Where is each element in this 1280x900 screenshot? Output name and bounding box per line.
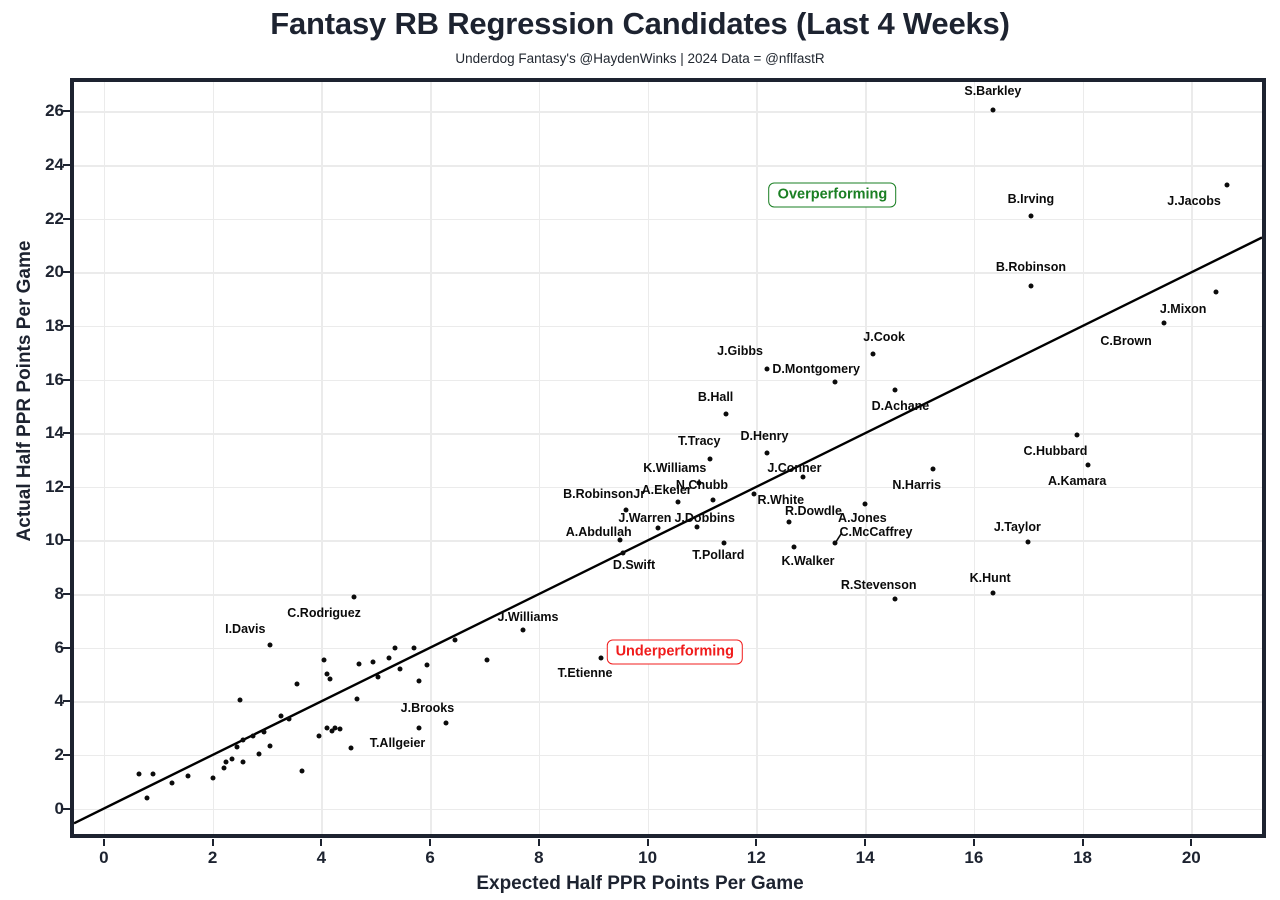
point-label: J.Warren (618, 511, 671, 525)
y-tick-mark (63, 379, 70, 381)
data-point-unlabeled (425, 663, 430, 668)
x-tick-label: 14 (835, 848, 895, 868)
point-label: J.Brooks (401, 701, 455, 715)
x-tick-label: 20 (1161, 848, 1221, 868)
y-tick-label: 0 (4, 799, 64, 819)
data-point-unlabeled (376, 675, 381, 680)
data-point-unlabeled (221, 766, 226, 771)
point-label: A.Abdullah (566, 525, 632, 539)
gridline-horizontal (74, 326, 1262, 328)
data-point (833, 541, 838, 546)
point-label: B.RobinsonJr (563, 487, 645, 501)
data-point (710, 498, 715, 503)
data-point (1028, 214, 1033, 219)
data-point (1086, 463, 1091, 468)
data-point-unlabeled (137, 771, 142, 776)
point-label: J.Gibbs (717, 344, 763, 358)
gridline-vertical (104, 82, 106, 834)
data-point (792, 545, 797, 550)
data-point (765, 366, 770, 371)
data-point-unlabeled (392, 645, 397, 650)
point-label: J.Williams (497, 610, 558, 624)
data-point (990, 108, 995, 113)
point-label: N.Harris (892, 478, 941, 492)
x-tick-label: 0 (74, 848, 134, 868)
point-label: K.Hunt (970, 571, 1011, 585)
data-point (621, 550, 626, 555)
data-point (990, 590, 995, 595)
data-point-unlabeled (150, 771, 155, 776)
point-label: R.Stevenson (841, 578, 917, 592)
x-tick-mark (320, 839, 322, 846)
data-point-unlabeled (240, 759, 245, 764)
data-point-unlabeled (267, 743, 272, 748)
gridline-vertical (756, 82, 758, 834)
data-point (863, 502, 868, 507)
data-point-unlabeled (224, 759, 229, 764)
data-point (694, 525, 699, 530)
data-point-unlabeled (452, 637, 457, 642)
data-point-unlabeled (349, 746, 354, 751)
point-label: I.Davis (225, 622, 265, 636)
y-tick-mark (63, 647, 70, 649)
data-point-unlabeled (322, 657, 327, 662)
y-tick-mark (63, 808, 70, 810)
data-point-unlabeled (278, 714, 283, 719)
y-axis-label: Actual Half PPR Points Per Game (14, 11, 36, 771)
gridline-horizontal (74, 755, 1262, 757)
point-label: A.Ekeler (642, 483, 692, 497)
data-point (765, 451, 770, 456)
x-tick-mark (103, 839, 105, 846)
data-point-unlabeled (145, 795, 150, 800)
data-point (786, 519, 791, 524)
point-label: J.Cook (863, 330, 905, 344)
point-label: J.Conner (767, 461, 821, 475)
y-tick-mark (63, 700, 70, 702)
point-label: C.Brown (1100, 334, 1151, 348)
point-label: C.McCaffrey (839, 525, 912, 539)
point-label: C.Rodriguez (287, 606, 361, 620)
x-tick-mark (538, 839, 540, 846)
data-point (1224, 183, 1229, 188)
point-label: B.Irving (1008, 192, 1055, 206)
data-point-unlabeled (327, 676, 332, 681)
data-point (871, 352, 876, 357)
y-tick-mark (63, 325, 70, 327)
data-point-unlabeled (324, 726, 329, 731)
x-tick-label: 12 (726, 848, 786, 868)
data-point (1213, 290, 1218, 295)
y-tick-mark (63, 539, 70, 541)
x-tick-label: 2 (183, 848, 243, 868)
x-tick-label: 6 (400, 848, 460, 868)
point-label: T.Etienne (558, 666, 613, 680)
data-point-unlabeled (262, 730, 267, 735)
y-tick-mark (63, 486, 70, 488)
point-label: B.Robinson (996, 260, 1066, 274)
data-point-unlabeled (300, 768, 305, 773)
x-tick-mark (864, 839, 866, 846)
x-tick-mark (1082, 839, 1084, 846)
chart-subtitle: Underdog Fantasy's @HaydenWinks | 2024 D… (0, 51, 1280, 66)
data-point-unlabeled (411, 645, 416, 650)
gridline-horizontal (74, 165, 1262, 167)
data-point-unlabeled (256, 751, 261, 756)
data-point-unlabeled (251, 734, 256, 739)
data-point-unlabeled (240, 738, 245, 743)
point-label: J.Taylor (994, 520, 1041, 534)
data-point (1075, 432, 1080, 437)
data-point-unlabeled (286, 716, 291, 721)
point-label: T.Tracy (678, 434, 720, 448)
point-label: T.Pollard (692, 548, 744, 562)
x-tick-label: 16 (944, 848, 1004, 868)
x-tick-label: 4 (291, 848, 351, 868)
x-tick-mark (755, 839, 757, 846)
x-tick-mark (647, 839, 649, 846)
data-point (417, 726, 422, 731)
gridline-vertical (974, 82, 976, 834)
point-label: A.Kamara (1048, 474, 1106, 488)
point-label: D.Montgomery (772, 362, 860, 376)
gridline-horizontal (74, 380, 1262, 382)
data-point-unlabeled (485, 657, 490, 662)
data-point-unlabeled (371, 660, 376, 665)
data-point (751, 491, 756, 496)
data-point-unlabeled (332, 726, 337, 731)
y-tick-mark (63, 432, 70, 434)
point-label: B.Hall (698, 390, 733, 404)
data-point (1026, 539, 1031, 544)
data-point (892, 597, 897, 602)
data-point (1028, 283, 1033, 288)
gridline-horizontal (74, 272, 1262, 274)
data-point-unlabeled (169, 781, 174, 786)
gridline-vertical (539, 82, 541, 834)
point-label: D.Swift (613, 558, 655, 572)
gridline-vertical (648, 82, 650, 834)
data-point (724, 412, 729, 417)
data-point (444, 720, 449, 725)
annotation-badge-overperforming: Overperforming (769, 182, 897, 207)
data-point-unlabeled (210, 775, 215, 780)
point-label: D.Henry (741, 429, 789, 443)
data-point (599, 656, 604, 661)
point-label: D.Achane (872, 399, 930, 413)
x-axis-label: Expected Half PPR Points Per Game (0, 873, 1280, 895)
x-tick-mark (973, 839, 975, 846)
x-tick-mark (1190, 839, 1192, 846)
data-point (708, 456, 713, 461)
data-point (1162, 321, 1167, 326)
data-point-unlabeled (354, 696, 359, 701)
point-label: J.Mixon (1160, 302, 1207, 316)
point-label: C.Hubbard (1023, 444, 1087, 458)
data-point (520, 628, 525, 633)
data-point-unlabeled (316, 734, 321, 739)
plot-inner: S.BarkleyJ.JacobsB.IrvingB.RobinsonJ.Mix… (74, 82, 1262, 834)
gridline-vertical (321, 82, 323, 834)
annotation-badge-underperforming: Underperforming (607, 639, 743, 664)
data-point-unlabeled (417, 679, 422, 684)
gridline-vertical (1083, 82, 1085, 834)
data-point-unlabeled (357, 661, 362, 666)
gridline-horizontal (74, 701, 1262, 703)
x-tick-mark (429, 839, 431, 846)
gridline-horizontal (74, 433, 1262, 435)
data-point (267, 642, 272, 647)
gridline-horizontal (74, 594, 1262, 596)
y-tick-mark (63, 593, 70, 595)
x-tick-label: 18 (1053, 848, 1113, 868)
point-label: J.Jacobs (1167, 194, 1221, 208)
data-point (833, 380, 838, 385)
data-point-unlabeled (229, 756, 234, 761)
data-point-unlabeled (398, 667, 403, 672)
data-point (800, 475, 805, 480)
gridline-horizontal (74, 540, 1262, 542)
data-point (931, 467, 936, 472)
chart-title: Fantasy RB Regression Candidates (Last 4… (0, 6, 1280, 42)
data-point (721, 541, 726, 546)
y-tick-mark (63, 754, 70, 756)
point-label: K.Walker (781, 554, 834, 568)
y-tick-mark (63, 218, 70, 220)
gridline-horizontal (74, 111, 1262, 113)
gridline-vertical (213, 82, 215, 834)
data-point-unlabeled (186, 774, 191, 779)
data-point-unlabeled (237, 697, 242, 702)
point-label: K.Williams (643, 461, 706, 475)
data-point-unlabeled (338, 727, 343, 732)
y-tick-mark (63, 110, 70, 112)
x-tick-label: 10 (618, 848, 678, 868)
data-point (675, 499, 680, 504)
data-point (656, 526, 661, 531)
x-tick-mark (212, 839, 214, 846)
point-label: R.Dowdle (785, 504, 842, 518)
point-label: J.Dobbins (674, 511, 734, 525)
gridline-vertical (430, 82, 432, 834)
data-point-unlabeled (294, 681, 299, 686)
point-label: A.Jones (838, 511, 887, 525)
data-point (352, 594, 357, 599)
point-label: T.Allgeier (370, 736, 426, 750)
y-tick-mark (63, 164, 70, 166)
y-tick-mark (63, 271, 70, 273)
x-tick-label: 8 (509, 848, 569, 868)
gridline-horizontal (74, 219, 1262, 221)
plot-area: S.BarkleyJ.JacobsB.IrvingB.RobinsonJ.Mix… (70, 78, 1266, 838)
data-point (892, 388, 897, 393)
point-label: S.Barkley (964, 84, 1021, 98)
gridline-horizontal (74, 809, 1262, 811)
data-point-unlabeled (387, 656, 392, 661)
data-point-unlabeled (235, 744, 240, 749)
